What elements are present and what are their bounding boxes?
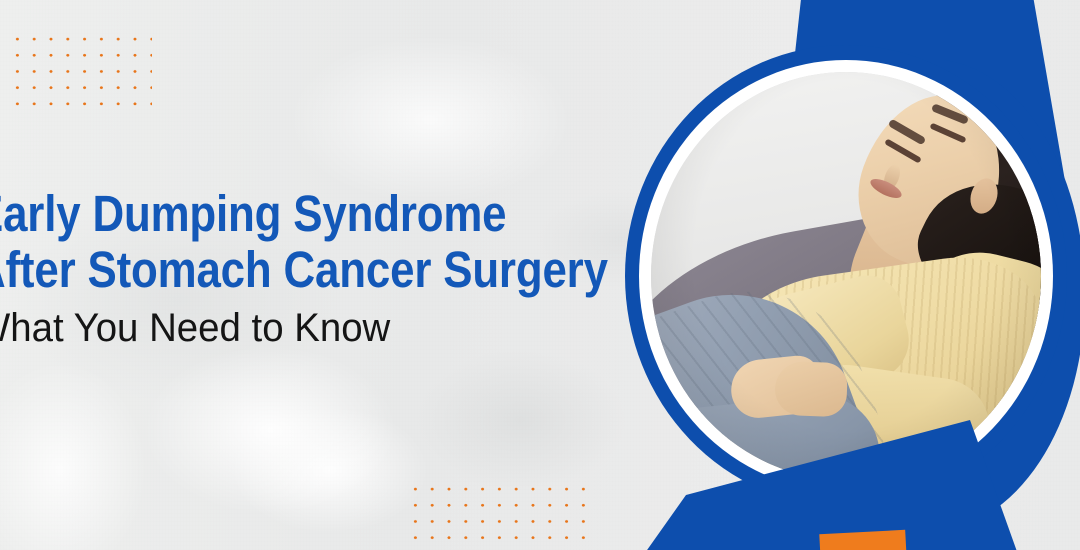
photo-vignette: [651, 72, 1041, 480]
orange-rectangle-bottom: [819, 530, 906, 550]
orange-dot-grid-top-left: [8, 30, 152, 116]
hero-banner: Early Dumping Syndrome After Stomach Can…: [0, 0, 1080, 550]
orange-dot-grid-bottom: [406, 480, 586, 550]
photo-ring: [625, 45, 1067, 507]
headline-block: Early Dumping Syndrome After Stomach Can…: [0, 186, 654, 352]
photo-inner-ring: [639, 60, 1053, 492]
hero-photo: [651, 72, 1041, 480]
headline-subtitle: What You Need to Know: [0, 304, 627, 352]
headline-line-1: Early Dumping Syndrome: [0, 186, 559, 242]
headline-line-2: After Stomach Cancer Surgery: [0, 242, 559, 298]
